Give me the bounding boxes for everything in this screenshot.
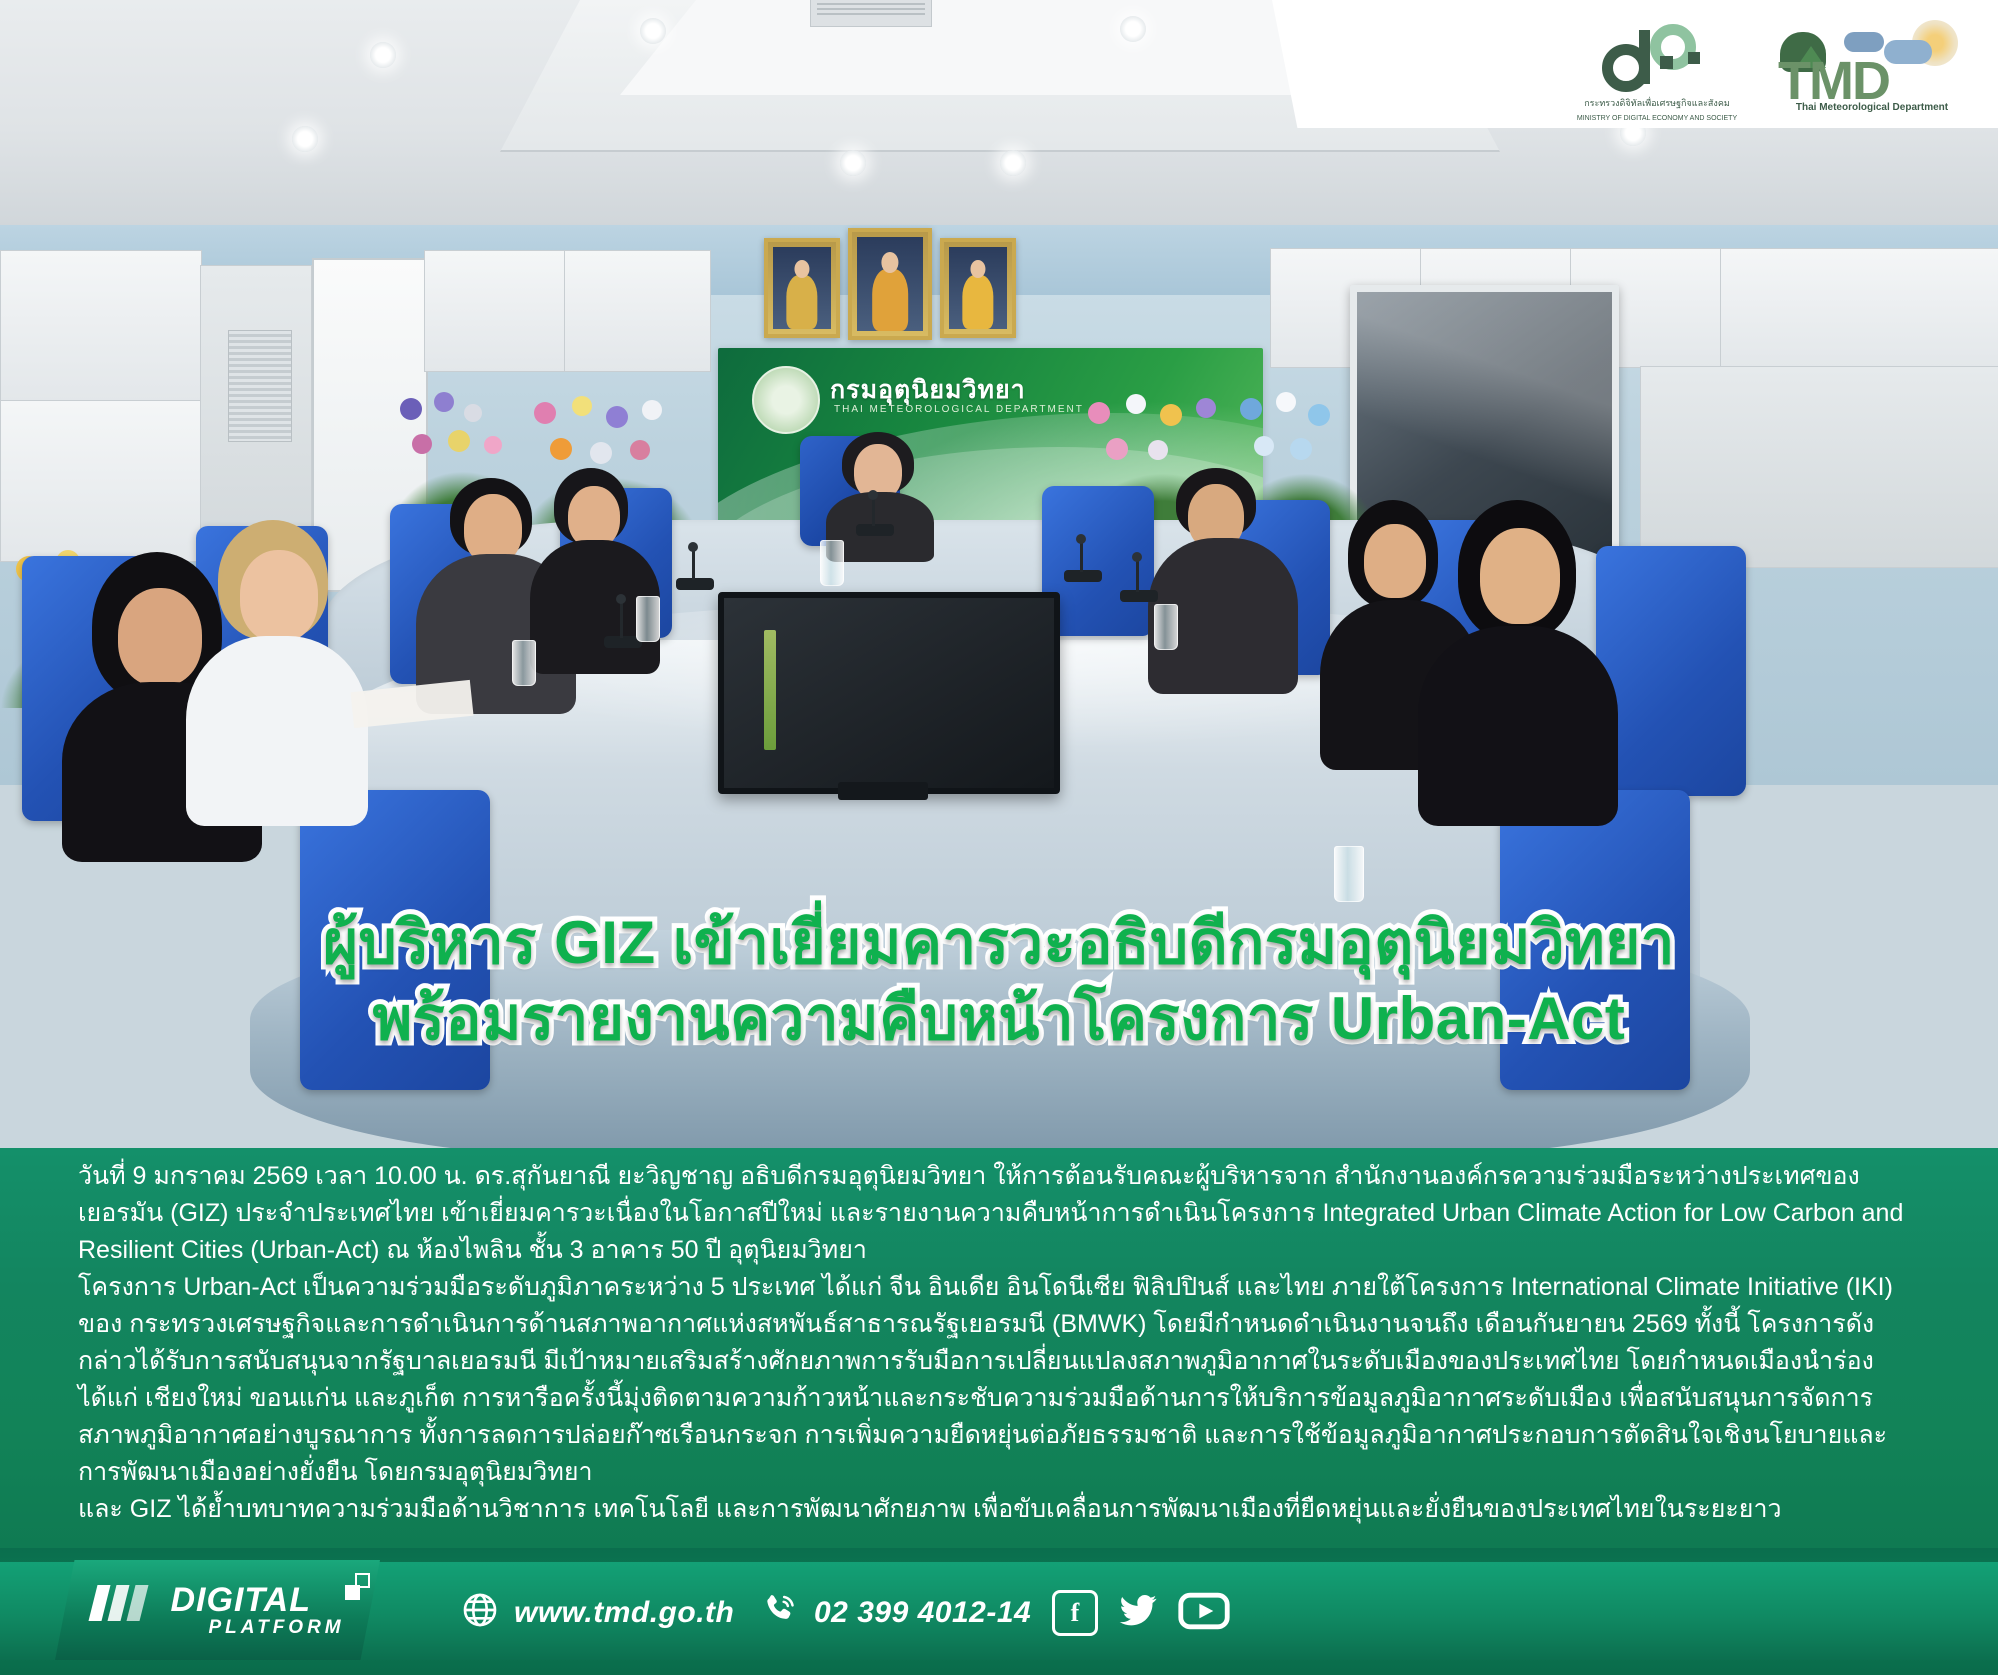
downlight-icon: [1000, 150, 1026, 176]
downlight-icon: [840, 150, 866, 176]
des-logo-caption-en: MINISTRY OF DIGITAL ECONOMY AND SOCIETY: [1562, 113, 1752, 124]
downlight-icon: [370, 42, 396, 68]
des-logo-icon: [1592, 22, 1722, 94]
air-conditioner-vent: [810, 0, 932, 27]
article-body: วันที่ 9 มกราคม 2569 เวลา 10.00 น. ดร.สุ…: [0, 1148, 1998, 1548]
wall-cabinet: [0, 400, 202, 562]
microphone-stem: [1136, 560, 1139, 592]
downlight-icon: [640, 18, 666, 44]
phone-text: 02 399 4012-14: [814, 1596, 1031, 1630]
body-paragraph-1: วันที่ 9 มกราคม 2569 เวลา 10.00 น. ดร.สุ…: [78, 1158, 1928, 1269]
water-glass: [1154, 604, 1178, 650]
digital-platform-badge: DIGITAL PLATFORM: [55, 1560, 380, 1660]
royal-portrait: [940, 238, 1016, 338]
cloud-icon: [1884, 40, 1932, 64]
body-paragraph-3: และ GIZ ได้ย้ำบทบาทความร่วมมือด้านวิชากา…: [78, 1491, 1928, 1528]
person-attendee: [1418, 500, 1618, 820]
office-chair: [1596, 546, 1746, 796]
person-attendee: [182, 520, 372, 820]
downlight-icon: [292, 126, 318, 152]
tmd-logo-letters: TMD: [1778, 54, 1889, 108]
microphone: [1064, 570, 1102, 582]
header-logo-card: กระทรวงดิจิทัลเพื่อเศรษฐกิจและสังคม MINI…: [1272, 0, 1998, 128]
phone-number[interactable]: 02 399 4012-14: [760, 1590, 1031, 1635]
social-links: f: [1052, 1590, 1230, 1636]
twitter-icon[interactable]: [1116, 1591, 1160, 1636]
footer-bar: DIGITAL PLATFORM www.tmd.go.th: [0, 1548, 1998, 1675]
cloud-icon: [1844, 32, 1884, 52]
digital-label: DIGITAL: [171, 1581, 311, 1620]
microphone-stem: [1080, 542, 1083, 572]
table-monitor: [718, 592, 1060, 794]
microphone: [676, 578, 714, 590]
meeting-photo: กรมอุตุนิยมวิทยา THAI METEOROLOGICAL DEP…: [0, 0, 1998, 1160]
tmd-logo: TMD Thai Meteorological Department: [1772, 18, 1972, 113]
body-paragraph-2: โครงการ Urban-Act เป็นความร่วมมือระดับภู…: [78, 1269, 1928, 1491]
wall-cabinet: [564, 250, 711, 372]
infographic-card: กรมอุตุนิยมวิทยา THAI METEOROLOGICAL DEP…: [0, 0, 1998, 1675]
office-chair: [300, 790, 490, 1090]
microphone-stem: [620, 602, 623, 638]
water-glass: [636, 596, 660, 642]
website-link[interactable]: www.tmd.go.th: [460, 1590, 734, 1635]
backdrop-subtitle: THAI METEOROLOGICAL DEPARTMENT: [834, 404, 1084, 415]
wall-cabinet: [424, 250, 566, 372]
microphone-head: [1132, 552, 1142, 562]
garuda-seal-icon: [752, 366, 820, 434]
microphone-head: [1076, 534, 1086, 544]
youtube-icon[interactable]: [1178, 1591, 1230, 1636]
microphone-head: [616, 594, 626, 604]
ceiling-panel-inner: [620, 0, 1380, 95]
tmd-logo-icon: TMD: [1772, 18, 1972, 100]
microphone: [856, 524, 894, 536]
water-glass: [512, 640, 536, 686]
des-logo-caption-th: กระทรวงดิจิทัลเพื่อเศรษฐกิจและสังคม: [1562, 98, 1752, 109]
platform-label: PLATFORM: [209, 1617, 345, 1639]
facebook-icon[interactable]: f: [1052, 1590, 1098, 1636]
water-glass: [820, 540, 844, 586]
microphone-head: [868, 490, 878, 500]
royal-portrait: [764, 238, 840, 338]
bars-icon: [93, 1585, 144, 1621]
microphone-stem: [872, 498, 875, 526]
downlight-icon: [1120, 16, 1146, 42]
person-attendee: [1148, 468, 1298, 688]
office-chair: [1500, 790, 1690, 1090]
phone-icon: [760, 1590, 800, 1635]
monitor-stand: [838, 782, 928, 800]
website-url: www.tmd.go.th: [514, 1596, 734, 1630]
globe-icon: [460, 1590, 500, 1635]
wall-cabinet: [1640, 366, 1998, 568]
microphone-head: [688, 542, 698, 552]
des-ministry-logo: กระทรวงดิจิทัลเพื่อเศรษฐกิจและสังคม MINI…: [1562, 22, 1752, 124]
water-glass: [1334, 846, 1364, 902]
microphone-stem: [692, 550, 695, 580]
door-vent: [228, 330, 292, 442]
royal-portrait: [848, 228, 932, 340]
wall-cabinet: [0, 250, 202, 402]
microphone: [1120, 590, 1158, 602]
wall-cabinet: [1720, 248, 1998, 368]
